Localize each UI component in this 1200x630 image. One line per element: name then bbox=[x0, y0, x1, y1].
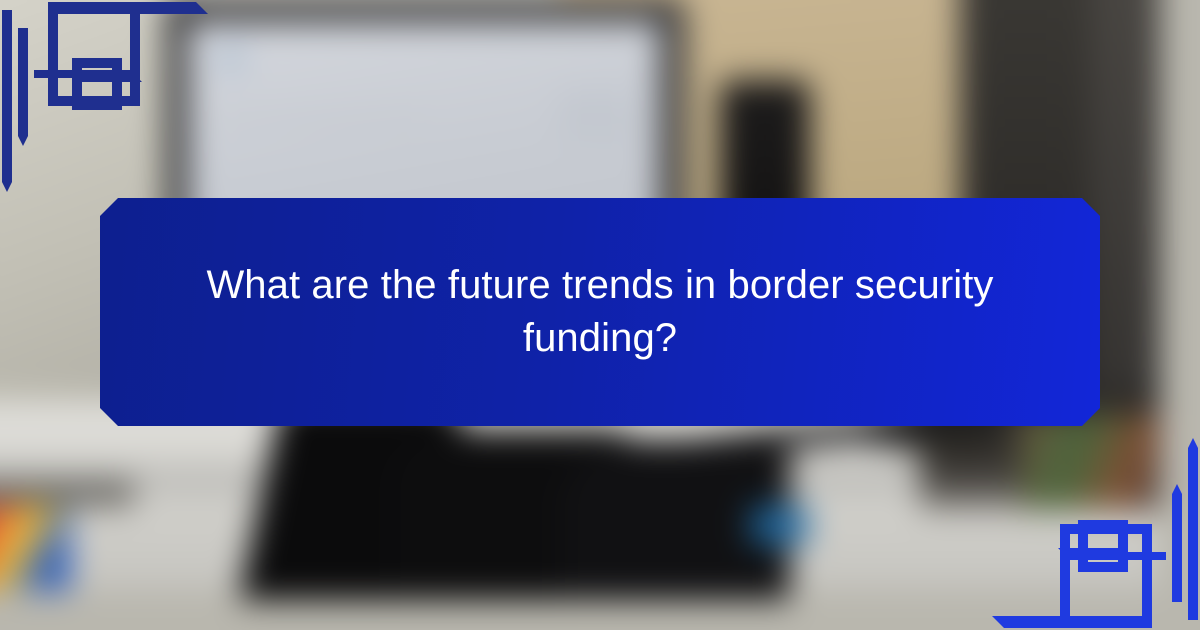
background-left-tube bbox=[0, 480, 135, 506]
banner-title: What are the future trends in border sec… bbox=[200, 259, 1000, 365]
background-wall-dark-2 bbox=[1090, 0, 1160, 430]
banner-stage: What are the future trends in border sec… bbox=[0, 0, 1200, 630]
background-screen-detail-1 bbox=[218, 44, 244, 70]
background-color-box bbox=[0, 505, 70, 590]
background-screen-detail-3 bbox=[222, 110, 422, 126]
background-screen-detail-2 bbox=[560, 90, 630, 140]
background-foreground-accent bbox=[750, 505, 810, 545]
question-banner: What are the future trends in border sec… bbox=[100, 198, 1100, 426]
background-shelf-items bbox=[1020, 415, 1160, 510]
